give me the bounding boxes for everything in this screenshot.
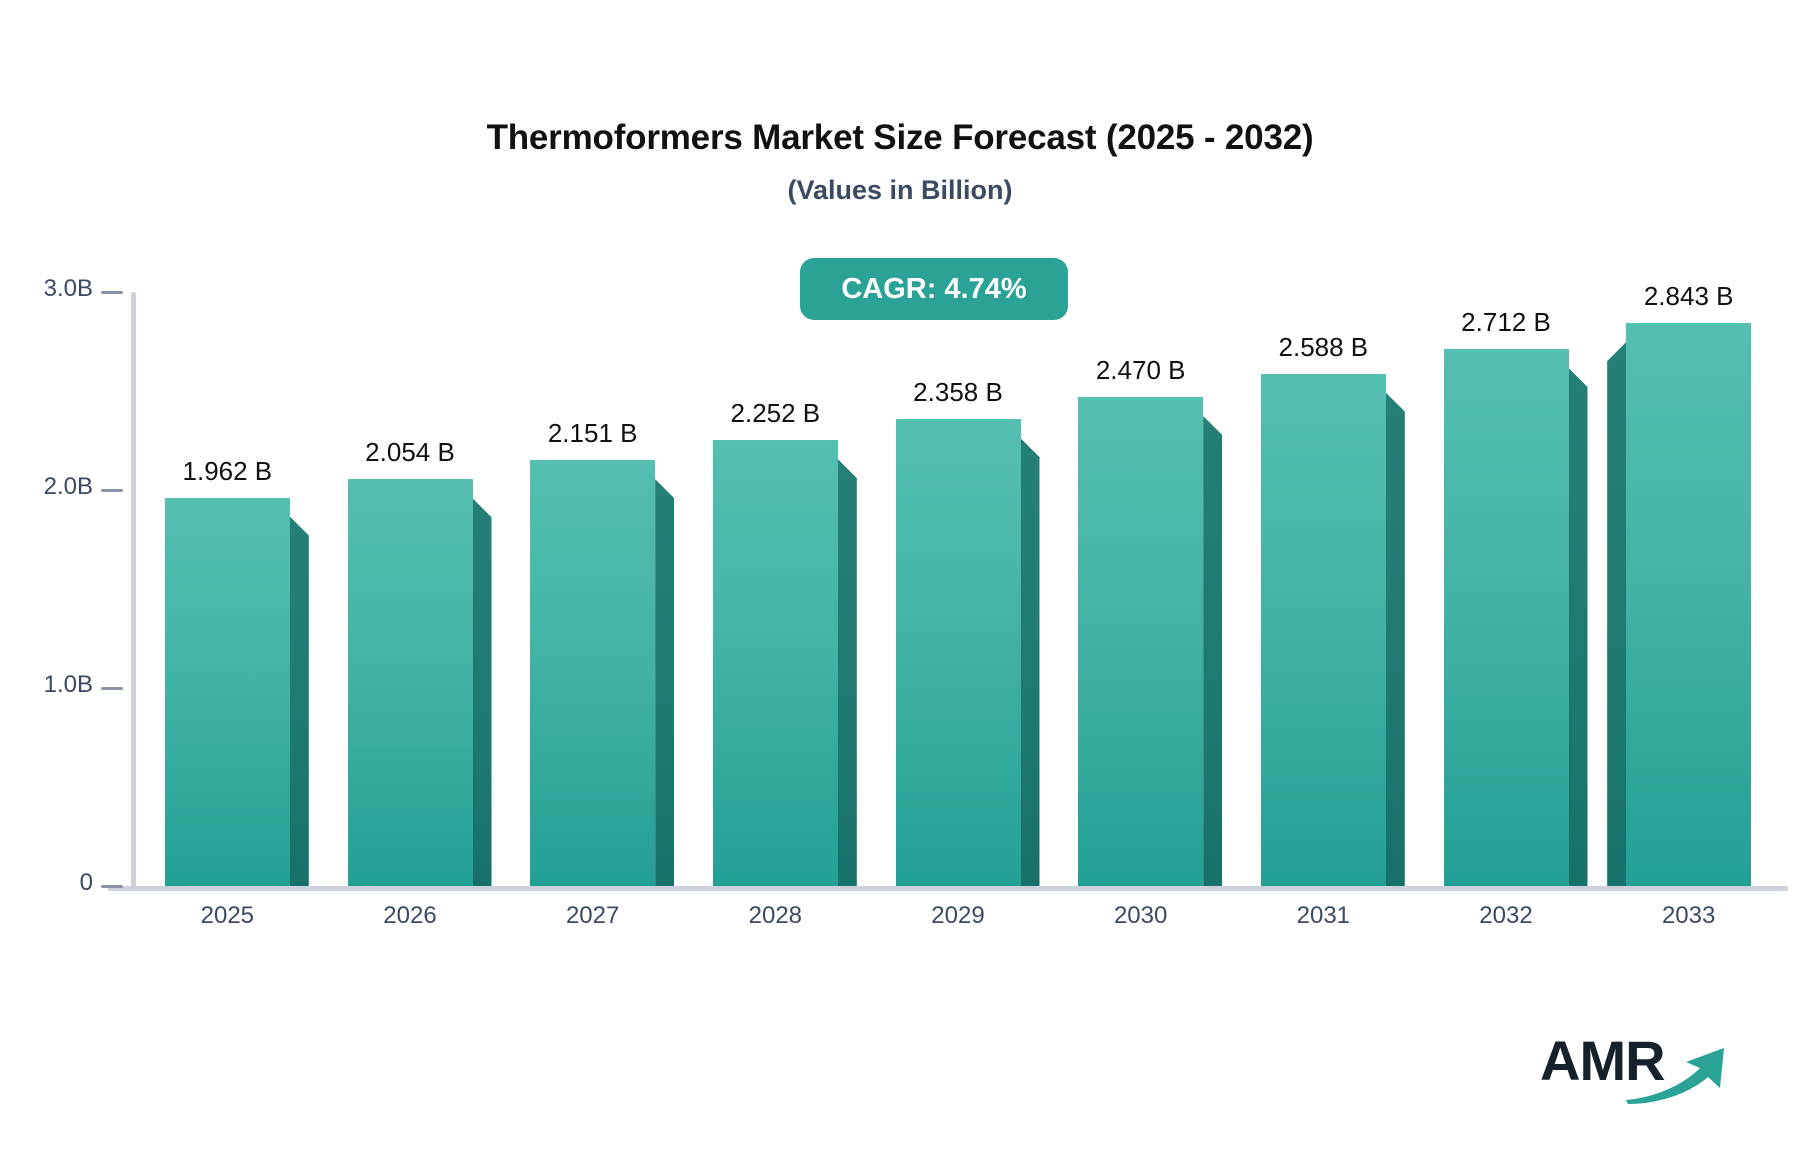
x-axis-label-2025: 2025 bbox=[201, 902, 254, 930]
bar-face bbox=[1078, 397, 1203, 886]
bar-side-panel bbox=[290, 517, 309, 886]
bar-value-label: 2.843 B bbox=[1644, 281, 1734, 312]
y-axis-tick-mark bbox=[101, 687, 123, 690]
bar-side-panel bbox=[1203, 416, 1222, 886]
x-axis-label-2031: 2031 bbox=[1297, 902, 1350, 930]
x-axis-line bbox=[108, 886, 1788, 891]
y-axis-line bbox=[131, 292, 136, 888]
y-axis-tick-label: 3.0B bbox=[44, 275, 93, 303]
x-axis-label-2029: 2029 bbox=[931, 902, 984, 930]
bar-2030[interactable]: 2.470 B bbox=[1078, 397, 1203, 886]
bar-2031[interactable]: 2.588 B bbox=[1261, 374, 1386, 886]
bar-2025[interactable]: 1.962 B bbox=[165, 498, 290, 886]
y-axis-tick-mark bbox=[101, 291, 123, 294]
x-axis-label-2026: 2026 bbox=[383, 902, 436, 930]
y-axis-tick-mark bbox=[101, 885, 123, 888]
bar-face bbox=[1261, 374, 1386, 886]
bar-value-label: 2.358 B bbox=[913, 377, 1003, 408]
x-axis-label-2030: 2030 bbox=[1114, 902, 1167, 930]
trend-up-arrow-icon bbox=[1624, 1044, 1734, 1111]
y-axis-tick-label: 1.0B bbox=[44, 671, 93, 699]
x-axis-label-2028: 2028 bbox=[749, 902, 802, 930]
cagr-badge: CAGR: 4.74% bbox=[800, 258, 1068, 320]
bar-2032[interactable]: 2.712 B bbox=[1444, 349, 1569, 886]
bar-value-label: 2.470 B bbox=[1096, 355, 1186, 386]
bar-2033[interactable]: 2.843 B bbox=[1626, 323, 1751, 886]
bar-value-label: 2.252 B bbox=[731, 398, 821, 429]
plot-area: 3.0B2.0B1.0B0 1.962 B2.054 B2.151 B2.252… bbox=[0, 0, 1800, 1156]
bar-2026[interactable]: 2.054 B bbox=[348, 479, 473, 886]
bar-side-panel bbox=[655, 479, 674, 886]
bar-face bbox=[348, 479, 473, 886]
bar-value-label: 2.151 B bbox=[548, 418, 638, 449]
bar-side-panel bbox=[473, 498, 492, 886]
amr-logo: AMR bbox=[1540, 1030, 1730, 1110]
bar-side-panel bbox=[1386, 393, 1405, 886]
bar-face bbox=[1444, 349, 1569, 886]
bar-face bbox=[165, 498, 290, 886]
bar-face bbox=[896, 419, 1021, 886]
x-axis-label-2032: 2032 bbox=[1479, 902, 1532, 930]
bar-value-label: 2.054 B bbox=[365, 437, 455, 468]
bar-face bbox=[1626, 323, 1751, 886]
bar-side-panel bbox=[838, 459, 857, 886]
bar-2028[interactable]: 2.252 B bbox=[713, 440, 838, 886]
x-axis-label-2027: 2027 bbox=[566, 902, 619, 930]
bar-face bbox=[713, 440, 838, 886]
bar-side-panel bbox=[1607, 342, 1626, 886]
x-axis-label-2033: 2033 bbox=[1662, 902, 1715, 930]
bar-value-label: 1.962 B bbox=[183, 456, 273, 487]
y-axis-tick-label: 0 bbox=[80, 869, 93, 897]
bar-2029[interactable]: 2.358 B bbox=[896, 419, 1021, 886]
bar-side-panel bbox=[1021, 438, 1040, 886]
bar-value-label: 2.588 B bbox=[1279, 332, 1369, 363]
y-axis-tick-label: 2.0B bbox=[44, 473, 93, 501]
y-axis-tick-mark bbox=[101, 489, 123, 492]
chart-container: Thermoformers Market Size Forecast (2025… bbox=[0, 0, 1800, 1156]
bar-value-label: 2.712 B bbox=[1461, 307, 1551, 338]
bar-side-panel bbox=[1569, 368, 1588, 886]
bar-face bbox=[530, 460, 655, 886]
bar-2027[interactable]: 2.151 B bbox=[530, 460, 655, 886]
